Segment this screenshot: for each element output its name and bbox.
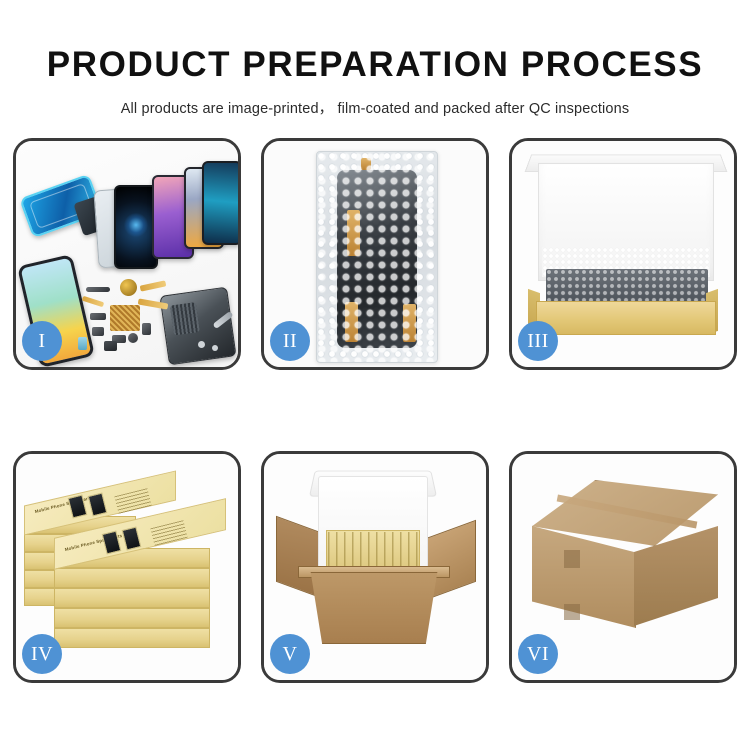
teal-phone-display bbox=[202, 161, 238, 245]
inner-boxes-edges bbox=[328, 532, 418, 570]
process-step-grid: I II bbox=[13, 138, 737, 683]
stacked-box-front-3 bbox=[54, 588, 210, 608]
carton-front-face bbox=[532, 526, 636, 628]
process-step-panel-2: II bbox=[261, 138, 489, 370]
step-badge-1: I bbox=[22, 321, 62, 361]
step-badge-6: VI bbox=[518, 634, 558, 674]
stacked-box-front-1 bbox=[54, 628, 210, 648]
step-badge-5: V bbox=[270, 634, 310, 674]
step-badge-4: IV bbox=[22, 634, 62, 674]
phone-back-housing bbox=[159, 287, 236, 366]
bubble-wrap-bag bbox=[316, 151, 438, 363]
yellow-box-front bbox=[536, 301, 716, 335]
carton-tab-lower bbox=[564, 604, 580, 620]
carton-body bbox=[302, 572, 446, 644]
flex-cable-c bbox=[82, 296, 104, 308]
process-step-panel-4: Mobile Phone Spare Parts Mobile Phone Sp… bbox=[13, 451, 241, 683]
process-step-panel-6: VI bbox=[509, 451, 737, 683]
page-title: PRODUCT PREPARATION PROCESS bbox=[0, 47, 750, 82]
stacked-box-front-2 bbox=[54, 608, 210, 628]
bubble-wrapped-contents bbox=[546, 269, 708, 305]
product-preparation-process-page: PRODUCT PREPARATION PROCESS All products… bbox=[0, 0, 750, 750]
stacked-boxes-image: Mobile Phone Spare Parts Mobile Phone Sp… bbox=[16, 454, 238, 680]
open-inner-box-image: III bbox=[512, 141, 734, 367]
step-badge-2: II bbox=[270, 321, 310, 361]
process-step-panel-5: V bbox=[261, 451, 489, 683]
sim-tray bbox=[142, 323, 151, 335]
process-step-panel-3: III bbox=[509, 138, 737, 370]
ic-chip-b bbox=[92, 327, 104, 336]
screw-b bbox=[212, 345, 218, 351]
screw-a bbox=[198, 341, 205, 348]
step-badge-3: III bbox=[518, 321, 558, 361]
carton-with-foam-box-image: V bbox=[264, 454, 486, 680]
page-header: PRODUCT PREPARATION PROCESS All products… bbox=[0, 0, 750, 118]
earpiece-mesh bbox=[86, 287, 110, 292]
ic-chip-a bbox=[90, 313, 106, 320]
camera-module bbox=[128, 333, 138, 343]
carton-tab-upper bbox=[564, 550, 580, 568]
stacked-box-front-4 bbox=[54, 568, 210, 588]
parts-collage-image: I bbox=[16, 141, 238, 367]
sealed-carton-image: VI bbox=[512, 454, 734, 680]
vibration-motor bbox=[104, 341, 117, 351]
bubble-texture-overlay bbox=[317, 152, 437, 362]
speaker-module bbox=[120, 279, 137, 296]
page-subtitle: All products are image-printed， film-coa… bbox=[0, 97, 750, 118]
logic-board-grid bbox=[110, 305, 140, 331]
process-step-panel-1: I bbox=[13, 138, 241, 370]
bubble-wrapped-screen-image: II bbox=[264, 141, 486, 367]
battery-cell bbox=[78, 337, 87, 350]
box-stack: Mobile Phone Spare Parts Mobile Phone Sp… bbox=[24, 470, 236, 666]
flex-cable-a bbox=[140, 280, 167, 291]
